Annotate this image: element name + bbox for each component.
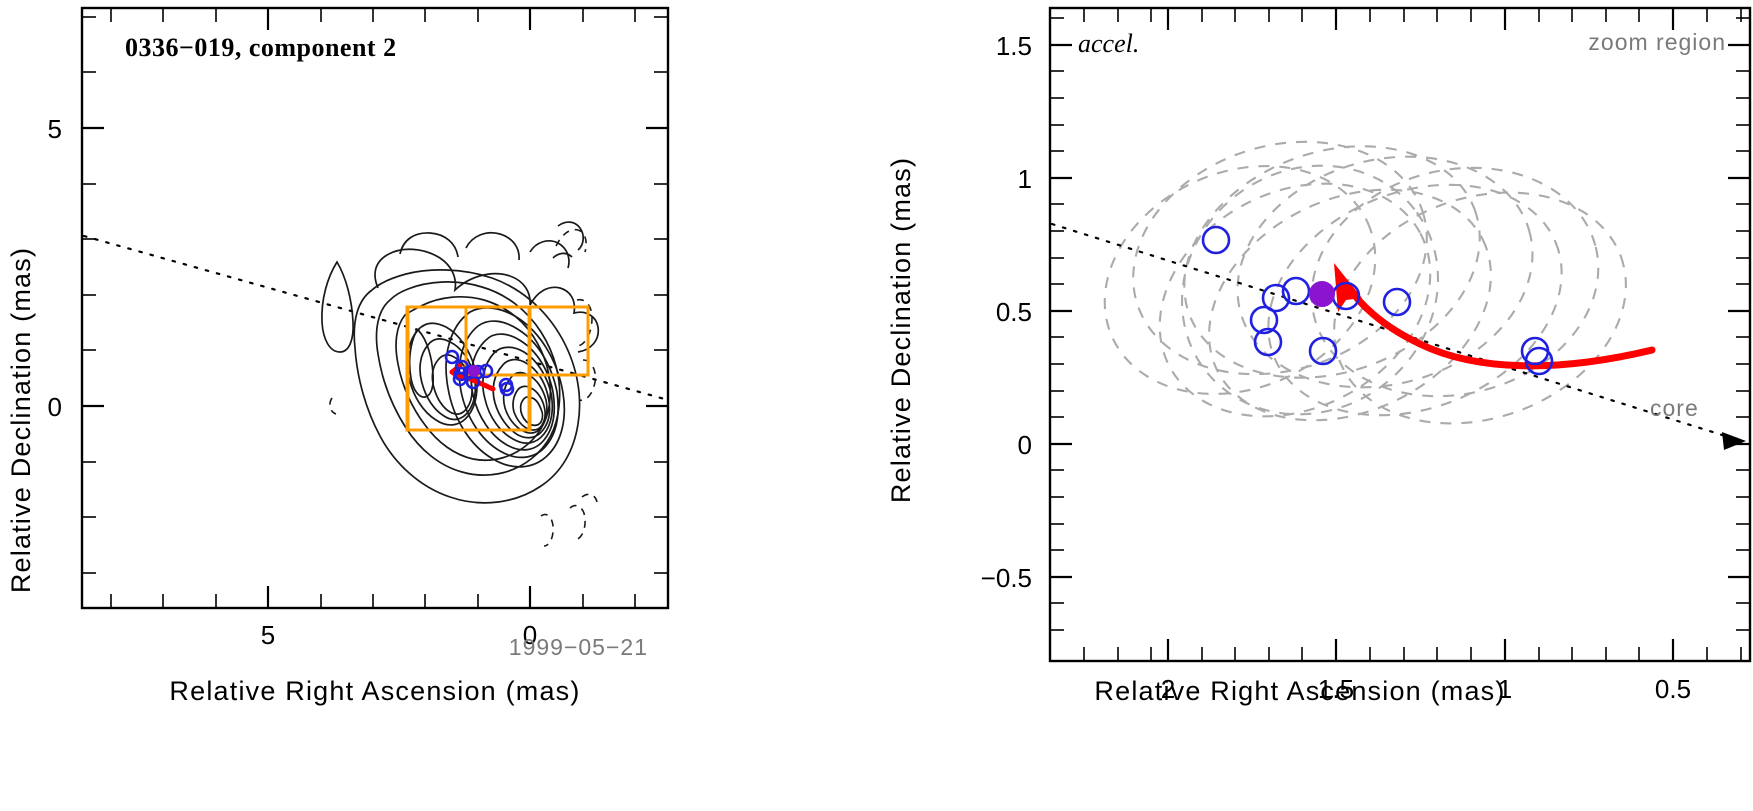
left-ylabel: Relative Declination (mas) <box>6 247 36 593</box>
left-panel: Relative Declination (mas) Relative Righ… <box>0 0 880 811</box>
accel-mode-label: accel. <box>1078 29 1139 58</box>
left-xlabel: Relative Right Ascension (mas) <box>169 676 580 706</box>
left-ytick-1: 0 <box>48 392 62 422</box>
right-ytick-2: 0.5 <box>996 297 1032 327</box>
component-position-points <box>1203 227 1552 374</box>
left-panel-title: 0336−019, component 2 <box>125 33 397 62</box>
trajectory-path <box>1348 286 1652 366</box>
trajectory-arrowhead-icon <box>1334 263 1362 312</box>
right-ytick-3: 0 <box>1018 430 1032 460</box>
right-ytick-0: 1.5 <box>996 31 1032 61</box>
right-panel: Relative Declination (mas) Relative Righ… <box>880 0 1753 811</box>
right-xtick-0: 2 <box>1161 674 1175 704</box>
zoom-region-label: zoom region <box>1588 29 1726 55</box>
core-label: core <box>1650 395 1699 421</box>
right-ytick-4: −0.5 <box>981 563 1032 593</box>
data-point <box>1526 348 1552 374</box>
right-xtick-3: 0.5 <box>1655 674 1691 704</box>
data-point <box>1203 227 1229 253</box>
core-arrow-icon <box>1722 432 1746 450</box>
right-ytick-1: 1 <box>1018 164 1032 194</box>
right-ylabel: Relative Declination (mas) <box>886 157 916 503</box>
left-yaxis-ticks <box>82 17 668 573</box>
right-yaxis-ticks <box>1050 18 1750 630</box>
right-xlabel: Relative Right Ascension (mas) <box>1094 676 1505 706</box>
right-xtick-2: 1 <box>1498 674 1512 704</box>
right-xtick-1: 1.5 <box>1318 674 1354 704</box>
error-ellipses <box>1068 105 1658 465</box>
left-xtick-0: 5 <box>261 620 275 650</box>
observation-date-label: 1999−05−21 <box>509 634 648 660</box>
figure-root: Relative Declination (mas) Relative Righ… <box>0 0 1753 811</box>
left-ytick-0: 5 <box>48 114 62 144</box>
reference-position-point <box>1310 282 1334 306</box>
